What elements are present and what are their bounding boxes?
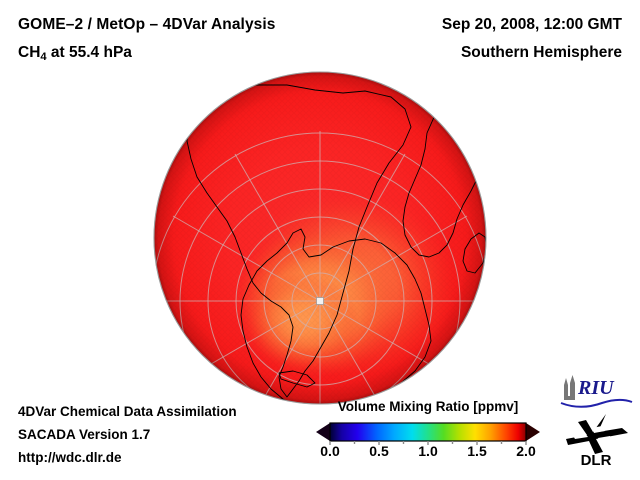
colorbar-tick-4: 2.0 bbox=[516, 443, 535, 459]
species-level-label: CH4 at 55.4 hPa bbox=[18, 44, 132, 63]
colorbar-tick-0: 0.0 bbox=[320, 443, 339, 459]
hemisphere-label: Southern Hemisphere bbox=[461, 44, 622, 62]
page-title: GOME–2 / MetOp – 4DVar Analysis bbox=[18, 16, 276, 34]
footer-line-method: 4DVar Chemical Data Assimilation bbox=[18, 400, 237, 423]
footer-line-version: SACADA Version 1.7 bbox=[18, 423, 237, 446]
colorbar-tick-1: 0.5 bbox=[369, 443, 388, 459]
limb-shading bbox=[153, 71, 487, 405]
globe-map[interactable] bbox=[153, 71, 487, 405]
orthographic-projection-svg bbox=[153, 71, 487, 405]
colorbar-title: Volume Mixing Ratio [ppmv] bbox=[314, 399, 542, 414]
colorbar-scale bbox=[314, 421, 542, 445]
south-pole-marker bbox=[317, 298, 324, 305]
colorbar-tick-3: 1.5 bbox=[467, 443, 486, 459]
globe-content bbox=[153, 71, 487, 405]
page-title-text: GOME–2 / MetOp – 4DVar Analysis bbox=[18, 16, 276, 33]
datetime-label: Sep 20, 2008, 12:00 GMT bbox=[442, 16, 622, 34]
dlr-mark-icon bbox=[566, 414, 628, 454]
colorbar-tick-labels: 0.0 0.5 1.0 1.5 2.0 bbox=[314, 443, 542, 465]
colorbar-tick-2: 1.0 bbox=[418, 443, 437, 459]
colorbar-gradient bbox=[330, 423, 526, 441]
dlr-wordmark: DLR bbox=[581, 452, 612, 468]
riu-logo: RIU bbox=[558, 372, 634, 410]
footer-line-url[interactable]: http://wdc.dlr.de bbox=[18, 446, 237, 469]
colorbar-extend-right bbox=[526, 423, 540, 441]
riu-spires-icon bbox=[564, 375, 575, 400]
riu-wordmark: RIU bbox=[577, 377, 615, 399]
colorbar: Volume Mixing Ratio [ppmv] bbox=[314, 399, 542, 471]
dlr-logo: DLR bbox=[562, 412, 634, 468]
species-name: CH bbox=[18, 44, 40, 61]
pressure-level-text: at 55.4 hPa bbox=[47, 44, 132, 61]
footer-credits: 4DVar Chemical Data Assimilation SACADA … bbox=[18, 400, 237, 469]
colorbar-extend-left bbox=[316, 423, 330, 441]
riu-wave-icon bbox=[561, 400, 632, 407]
